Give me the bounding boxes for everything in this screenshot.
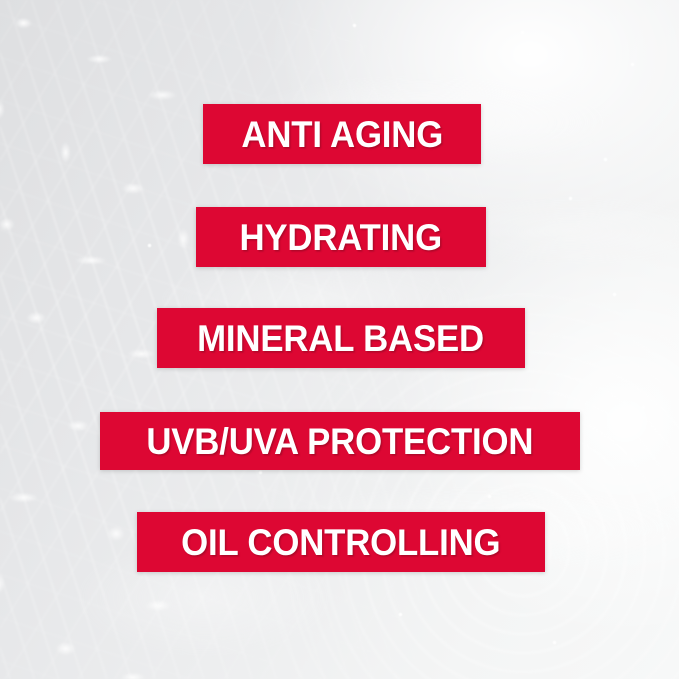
benefit-banner: HYDRATING [196,207,486,267]
benefits-graphic: ANTI AGINGHYDRATINGMINERAL BASEDUVB/UVA … [0,0,679,679]
benefit-label: HYDRATING [240,219,442,256]
benefit-banner: UVB/UVA PROTECTION [100,412,580,470]
benefit-label: UVB/UVA PROTECTION [147,423,534,460]
benefits-banner-list: ANTI AGINGHYDRATINGMINERAL BASEDUVB/UVA … [0,0,679,679]
benefit-label: ANTI AGING [241,116,443,153]
benefit-label: OIL CONTROLLING [181,524,500,561]
benefit-banner: OIL CONTROLLING [137,512,545,572]
benefit-label: MINERAL BASED [198,320,485,357]
benefit-banner: MINERAL BASED [157,308,525,368]
benefit-banner: ANTI AGING [203,104,481,164]
